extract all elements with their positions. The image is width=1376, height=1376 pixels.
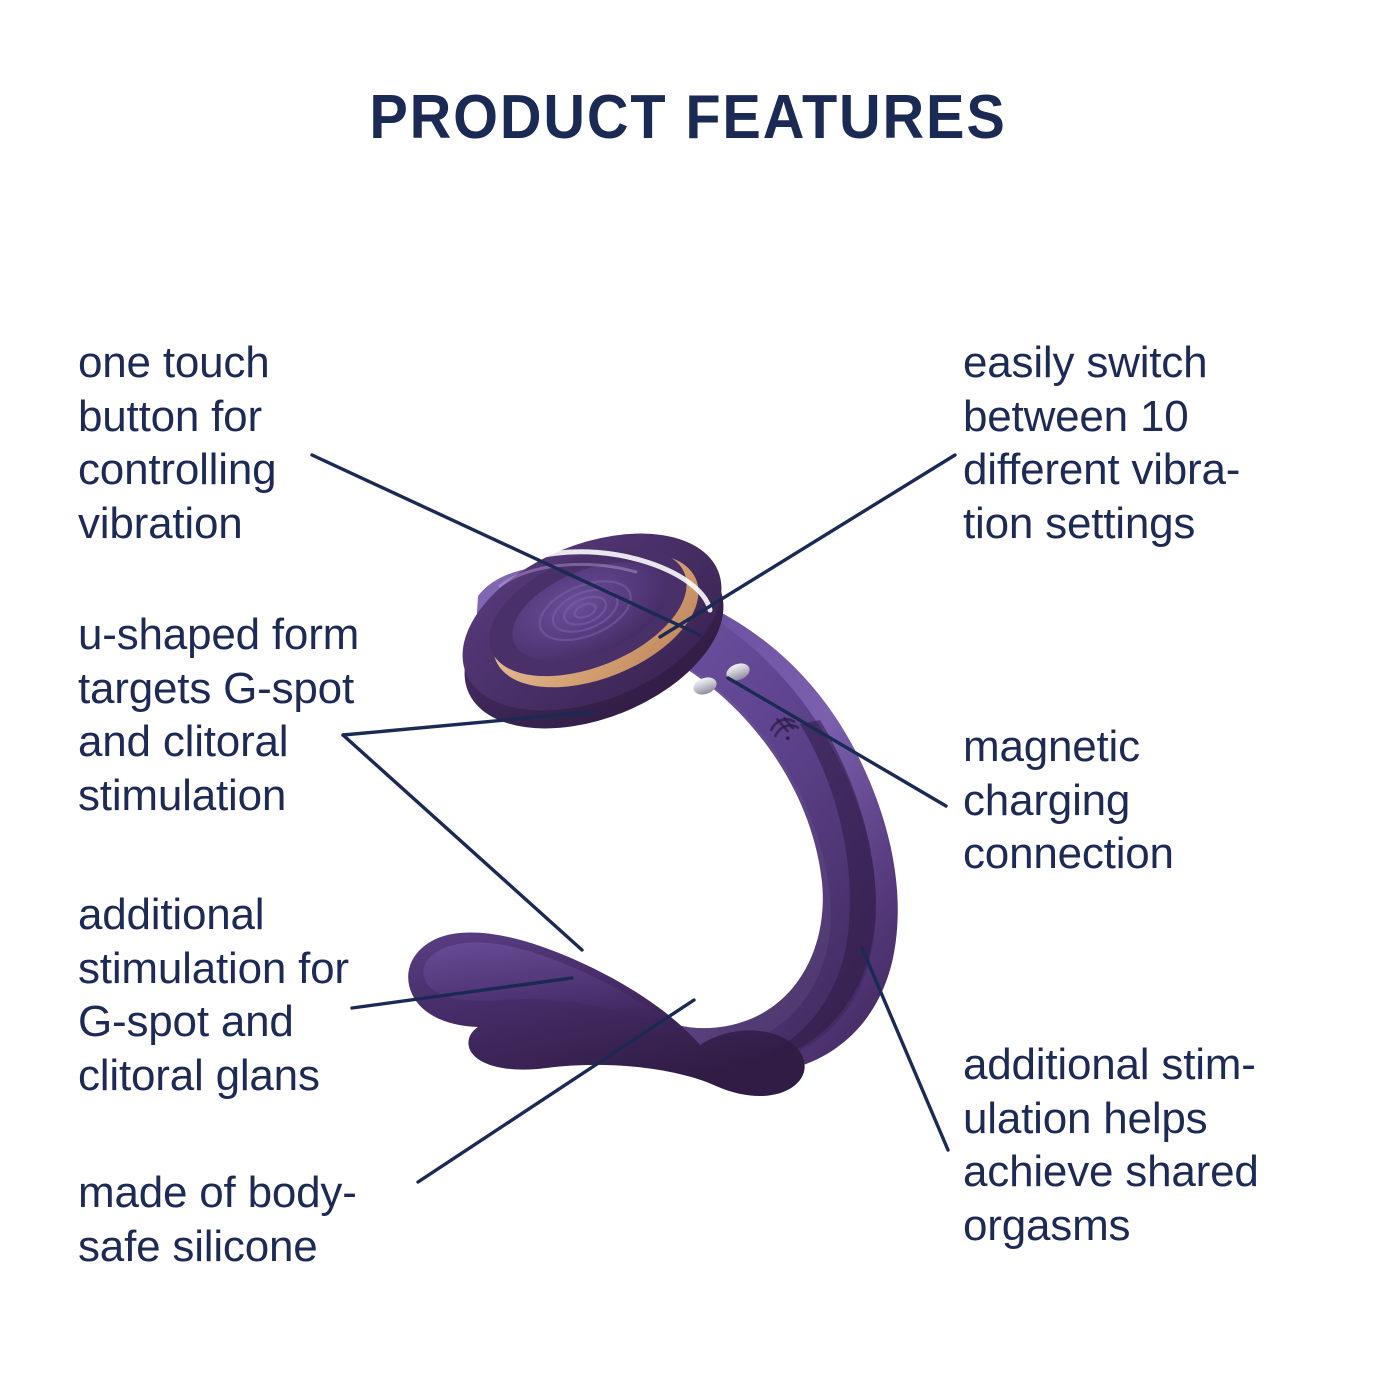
leader-line-shared-orgasms	[862, 948, 948, 1150]
callout-shared-orgasms: additional stim- ulation helps achieve s…	[963, 1038, 1313, 1253]
leader-line-vibration-settings	[660, 455, 955, 637]
callout-u-shaped-form: u-shaped form targets G-spot and clitora…	[78, 608, 428, 823]
callout-magnetic-charging: magnetic charging connection	[963, 720, 1293, 881]
callout-vibration-settings: easily switch between 10 different vibra…	[963, 336, 1303, 551]
product-body	[408, 499, 898, 1096]
product-features-infographic: PRODUCT FEATURES	[0, 0, 1376, 1376]
callout-one-touch-button: one touch button for controlling vibrati…	[78, 336, 408, 551]
callout-body-safe-silicone: made of body- safe silicone	[78, 1166, 438, 1273]
callout-additional-stimulation: additional stimulation for G-spot and cl…	[78, 888, 418, 1103]
